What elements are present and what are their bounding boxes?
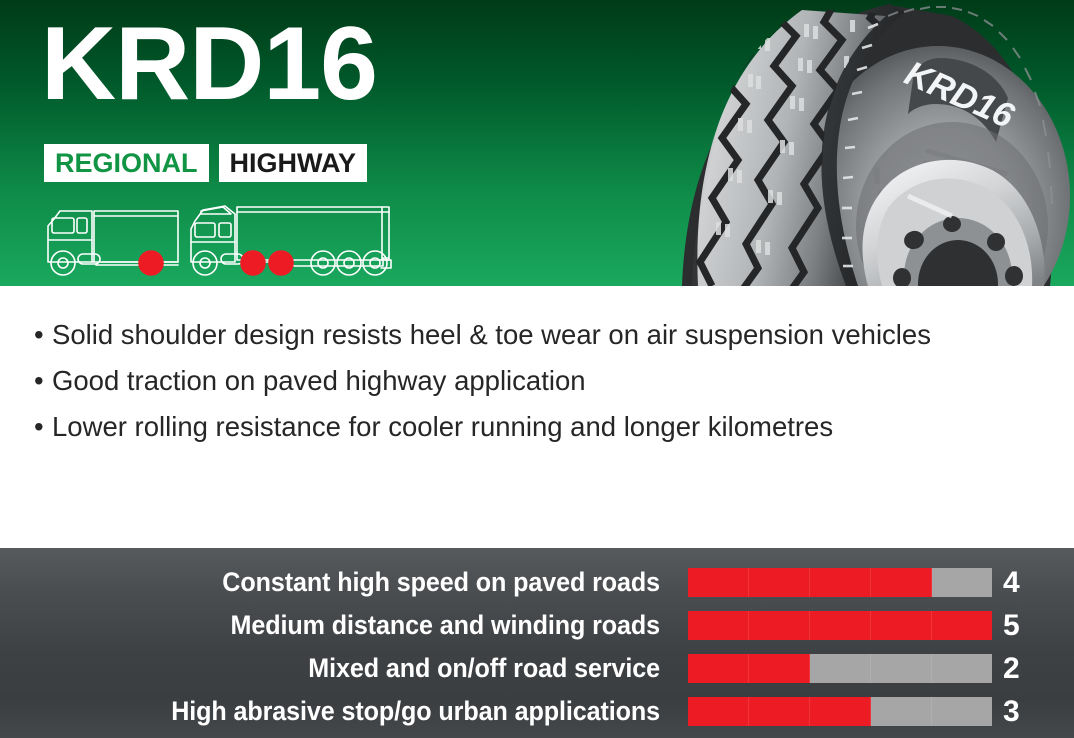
rating-bar-segment	[688, 697, 749, 726]
page-title: KRD16	[41, 12, 377, 116]
rating-bar-segment	[688, 611, 749, 640]
rating-label: Medium distance and winding roads	[46, 611, 660, 640]
feature-list: • Solid shoulder design resists heel & t…	[34, 312, 931, 450]
badge-regional: REGIONAL	[44, 144, 209, 182]
rating-bar-segment	[810, 697, 871, 726]
hero-banner: KRD16 REGIONAL HIGHWAY	[0, 0, 1074, 286]
rating-value: 2	[1003, 654, 1033, 684]
rating-bar	[688, 654, 992, 683]
product-spec-sheet: KRD16 REGIONAL HIGHWAY	[0, 0, 1074, 738]
rating-row: Constant high speed on paved roads 4	[0, 561, 1074, 604]
rating-bar-segment	[871, 654, 932, 683]
rating-value: 4	[1003, 568, 1033, 598]
rating-bar-segment	[749, 697, 810, 726]
tire-photo: KRD16	[652, 0, 1074, 286]
rigid-truck-icon	[48, 211, 178, 275]
application-icons	[36, 196, 396, 285]
rating-bar-segment	[932, 697, 992, 726]
feature-text: Solid shoulder design resists heel & toe…	[52, 312, 931, 358]
rating-bar-segment	[871, 611, 932, 640]
rating-bar	[688, 611, 992, 640]
bullet-icon: •	[34, 404, 52, 450]
rating-bar-segment	[688, 654, 749, 683]
articulated-truck-trailer-icon	[191, 206, 391, 275]
rating-bar-segment	[932, 611, 992, 640]
rating-row: Mixed and on/off road service 2	[0, 647, 1074, 690]
rating-bar	[688, 568, 992, 597]
bullet-icon: •	[34, 358, 52, 404]
rating-value: 3	[1003, 697, 1033, 727]
list-item: • Solid shoulder design resists heel & t…	[34, 312, 931, 358]
rating-bar-segment	[749, 611, 810, 640]
category-badges: REGIONAL HIGHWAY	[44, 144, 367, 182]
feature-text: Lower rolling resistance for cooler runn…	[52, 404, 833, 450]
rating-bar-segment	[688, 568, 749, 597]
suitability-ratings-panel: Constant high speed on paved roads 4 Med…	[0, 548, 1074, 738]
rating-value: 5	[1003, 611, 1033, 641]
rating-label: Mixed and on/off road service	[46, 654, 660, 683]
rating-row: High abrasive stop/go urban applications…	[0, 690, 1074, 733]
badge-highway-label: HIGHWAY	[230, 148, 357, 179]
list-item: • Lower rolling resistance for cooler ru…	[34, 404, 931, 450]
rating-bar-segment	[871, 697, 932, 726]
features-panel: • Solid shoulder design resists heel & t…	[0, 286, 1074, 548]
rating-bar	[688, 697, 992, 726]
bullet-icon: •	[34, 312, 52, 358]
rating-bar-segment	[749, 654, 810, 683]
rating-bar-segment	[932, 654, 992, 683]
rating-label: High abrasive stop/go urban applications	[46, 697, 660, 726]
rating-bar-segment	[810, 611, 871, 640]
rating-row: Medium distance and winding roads 5	[0, 604, 1074, 647]
badge-highway: HIGHWAY	[219, 144, 368, 182]
list-item: • Good traction on paved highway applica…	[34, 358, 931, 404]
rating-bar-segment	[932, 568, 992, 597]
rating-label: Constant high speed on paved roads	[46, 568, 660, 597]
rating-bar-segment	[810, 654, 871, 683]
badge-regional-label: REGIONAL	[55, 148, 198, 179]
rating-bar-segment	[871, 568, 932, 597]
rating-bar-segment	[749, 568, 810, 597]
rating-bar-segment	[810, 568, 871, 597]
feature-text: Good traction on paved highway applicati…	[52, 358, 586, 404]
